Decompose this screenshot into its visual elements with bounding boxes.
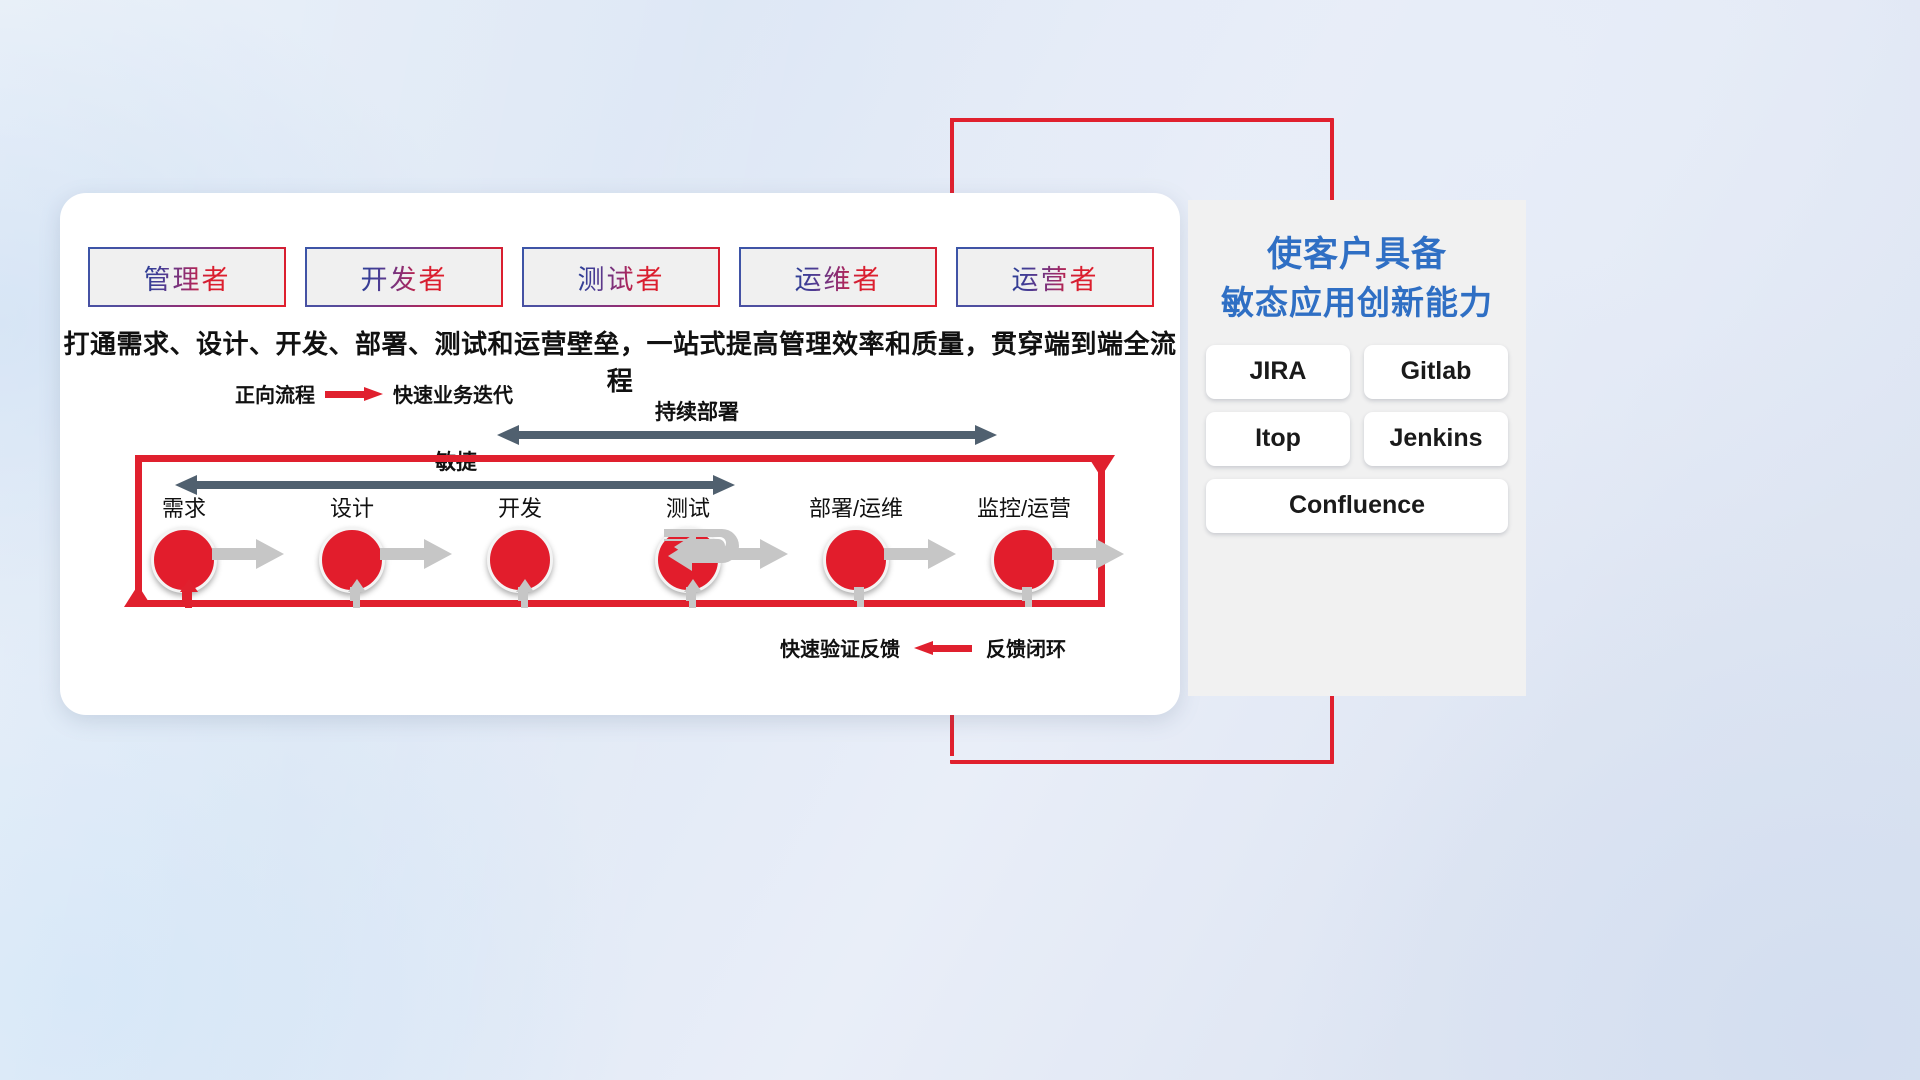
tool-chip-jira[interactable]: JIRA bbox=[1206, 345, 1350, 399]
stage-riser bbox=[521, 590, 528, 608]
stage-downriser bbox=[1025, 587, 1032, 607]
stage-label: 设计 bbox=[292, 491, 412, 523]
stage-connector-arrow-icon bbox=[884, 539, 956, 569]
description-text: 打通需求、设计、开发、部署、测试和运营壁垒，一站式提高管理效率和质量，贯穿端到端… bbox=[60, 324, 1180, 398]
stage-dot[interactable] bbox=[823, 527, 889, 593]
stage-downriser bbox=[857, 587, 864, 607]
tool-chip-jenkins[interactable]: Jenkins bbox=[1364, 412, 1508, 466]
continuous-deployment-double-arrow-icon bbox=[497, 425, 997, 445]
role-box-label: 运维者 bbox=[795, 258, 882, 297]
panel-headline-line1: 使客户具备 bbox=[1188, 230, 1526, 280]
tool-chip-list: JIRAGitlabItopJenkinsConfluence bbox=[1200, 345, 1514, 533]
stage-label: 测试 bbox=[628, 491, 748, 523]
stage-row: 需求设计开发测试部署/运维监控/运营 bbox=[96, 491, 1156, 601]
role-box-1[interactable]: 管理者 bbox=[90, 249, 284, 305]
forward-flow-left-label: 正向流程 bbox=[235, 379, 315, 408]
process-loop-arrowhead-down bbox=[1087, 455, 1115, 477]
role-box-4[interactable]: 运维者 bbox=[741, 249, 935, 305]
iteration-loop-arrow-icon bbox=[662, 525, 754, 583]
stage-riser bbox=[353, 590, 360, 608]
role-box-2[interactable]: 开发者 bbox=[307, 249, 501, 305]
stage-connector-arrow-icon bbox=[212, 539, 284, 569]
continuous-deployment-label: 持续部署 bbox=[655, 396, 739, 426]
feedback-left-label: 快速验证反馈 bbox=[780, 633, 900, 662]
stage-label: 需求 bbox=[124, 491, 244, 523]
stage-connector-arrow-icon bbox=[1052, 539, 1124, 569]
stage-connector-arrow-icon bbox=[380, 539, 452, 569]
panel-headline: 使客户具备 敏态应用创新能力 bbox=[1188, 200, 1526, 327]
feedback-right-label: 反馈闭环 bbox=[986, 633, 1066, 662]
forward-flow-right-label: 快速业务迭代 bbox=[393, 379, 513, 408]
tool-chip-gitlab[interactable]: Gitlab bbox=[1364, 345, 1508, 399]
stage-riser-arrowhead bbox=[180, 579, 198, 592]
stage-dot[interactable] bbox=[991, 527, 1057, 593]
tool-chip-itop[interactable]: Itop bbox=[1206, 412, 1350, 466]
stage-downriser bbox=[689, 587, 696, 607]
stage-riser-arrowhead bbox=[348, 579, 366, 592]
role-box-label: 开发者 bbox=[361, 258, 448, 297]
process-loop-top bbox=[135, 455, 1105, 462]
stage-riser-arrowhead bbox=[516, 579, 534, 592]
stage-label: 监控/运营 bbox=[964, 491, 1084, 523]
role-box-label: 运营者 bbox=[1012, 258, 1099, 297]
feedback-arrow-left-icon bbox=[914, 641, 972, 655]
role-box-5[interactable]: 运营者 bbox=[958, 249, 1152, 305]
stage-label: 开发 bbox=[460, 491, 580, 523]
stage-label: 部署/运维 bbox=[796, 491, 916, 523]
main-card: 管理者开发者测试者运维者运营者 打通需求、设计、开发、部署、测试和运营壁垒，一站… bbox=[60, 193, 1180, 715]
role-box-3[interactable]: 测试者 bbox=[524, 249, 718, 305]
role-box-label: 测试者 bbox=[578, 258, 665, 297]
forward-arrow-right-icon bbox=[325, 387, 383, 401]
tool-chip-confluence[interactable]: Confluence bbox=[1206, 479, 1508, 533]
role-box-label: 管理者 bbox=[144, 258, 231, 297]
forward-flow-legend: 正向流程 快速业务迭代 bbox=[235, 379, 513, 408]
stage-3[interactable]: 开发 bbox=[460, 491, 580, 593]
role-box-row: 管理者开发者测试者运维者运营者 bbox=[90, 249, 1152, 305]
panel-headline-line2: 敏态应用创新能力 bbox=[1188, 280, 1526, 327]
feedback-legend: 快速验证反馈 反馈闭环 bbox=[780, 633, 1066, 662]
process-loop-bottom bbox=[135, 600, 1105, 607]
stage-riser bbox=[185, 590, 192, 608]
tools-panel: 使客户具备 敏态应用创新能力 JIRAGitlabItopJenkinsConf… bbox=[1188, 200, 1526, 696]
